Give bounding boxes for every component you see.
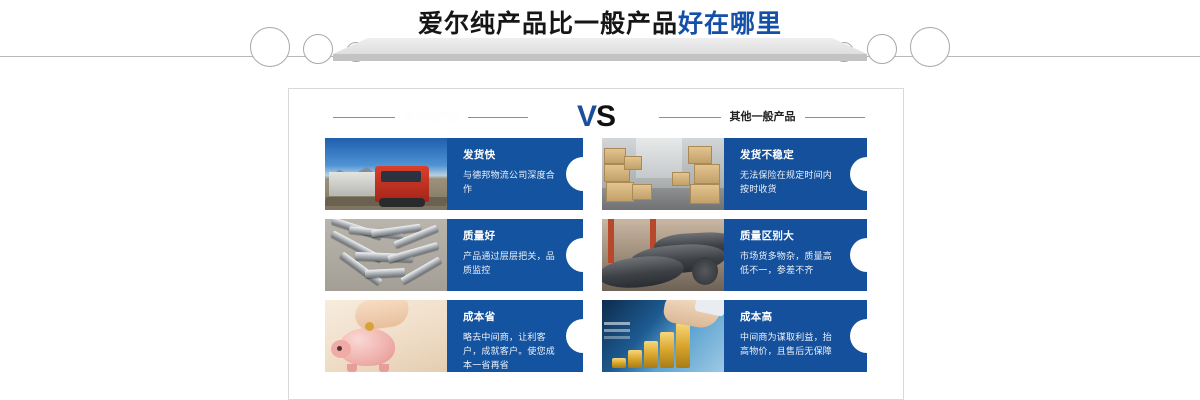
advantage-card-quality[interactable]: 质量好 产品通过层层把关，品质监控 [325, 219, 583, 291]
advantage-card-cost-panel: 成本省 略去中间商，让利客户，成就客户。使您成本一省再省 [447, 300, 583, 372]
page-title-accent: 好在哪里 [678, 9, 782, 38]
card-notch-circle [566, 157, 583, 191]
advantage-card-cost-thumbnail [325, 300, 447, 372]
pedestal-top-face [333, 38, 867, 54]
page-title-main: 爱尔纯产品比一般产品 [418, 9, 678, 38]
advantage-card-quality-heading: 质量好 [463, 230, 557, 243]
drawback-card-cost-heading: 成本高 [740, 311, 841, 324]
drawback-card-quality-heading: 质量区别大 [740, 230, 841, 243]
drawback-card-cost-panel: 成本高 中间商为谋取利益，抬高物价，且售后无保障 [724, 300, 867, 372]
advantage-card-cost[interactable]: 成本省 略去中间商，让利客户，成就客户。使您成本一省再省 [325, 300, 583, 372]
card-notch-circle [566, 238, 583, 272]
card-notch-circle [850, 319, 867, 353]
versus-right-rule-2 [805, 117, 865, 118]
advantage-card-delivery[interactable]: 发货快 与德邦物流公司深度合作 [325, 138, 583, 210]
advantage-card-delivery-thumbnail [325, 138, 447, 210]
advantage-card-quality-panel: 质量好 产品通过层层把关，品质监控 [447, 219, 583, 291]
versus-letter-v: V [577, 100, 596, 133]
versus-right-side: 其他一般产品 [619, 96, 904, 138]
comparison-grid: 发货快 与德邦物流公司深度合作 质量好 产品通过层层把关，品质监控 [288, 138, 904, 388]
drawback-card-quality-desc: 市场货多物杂，质量高低不一，参差不齐 [740, 250, 841, 278]
drawback-card-delivery-thumbnail [602, 138, 724, 210]
drawback-card-delivery-panel: 发货不稳定 无法保险在规定时间内按时收货 [724, 138, 867, 210]
drawback-card-quality-panel: 质量区别大 市场货多物杂，质量高低不一，参差不齐 [724, 219, 867, 291]
versus-left-rule-1 [333, 117, 395, 118]
title-pedestal-banner [333, 38, 867, 61]
drawback-card-cost-desc: 中间商为谋取利益，抬高物价，且售后无保障 [740, 331, 841, 359]
versus-word: VS [573, 102, 619, 132]
drawback-card-delivery[interactable]: 发货不稳定 无法保险在规定时间内按时收货 [602, 138, 867, 210]
card-notch-circle [566, 319, 583, 353]
advantage-card-cost-desc: 略去中间商，让利客户，成就客户。使您成本一省再省 [463, 331, 557, 372]
hand-stacking-gold-coins-image [602, 300, 724, 372]
page-title: 爱尔纯产品比一般产品好在哪里 [0, 8, 1200, 40]
drawback-card-delivery-heading: 发货不稳定 [740, 149, 841, 162]
card-notch-circle [850, 238, 867, 272]
advantage-card-quality-desc: 产品通过层层把关，品质监控 [463, 250, 557, 278]
drawback-card-cost-thumbnail [602, 300, 724, 372]
advantage-card-quality-thumbnail [325, 219, 447, 291]
drawback-card-delivery-desc: 无法保险在规定时间内按时收货 [740, 169, 841, 197]
advantage-card-delivery-panel: 发货快 与德邦物流公司深度合作 [447, 138, 583, 210]
warehouse-with-cardboard-boxes-image [602, 138, 724, 210]
drawback-card-cost[interactable]: 成本高 中间商为谋取利益，抬高物价，且售后无保障 [602, 300, 867, 372]
card-notch-circle [850, 157, 867, 191]
stainless-steel-tubes-image [325, 219, 447, 291]
advantage-card-cost-heading: 成本省 [463, 311, 557, 324]
drawback-column: 发货不稳定 无法保险在规定时间内按时收货 质量区别大 市场货多物杂，质量高低不一… [602, 138, 867, 388]
pedestal-base-edge [333, 54, 867, 61]
page-header: 爱尔纯产品比一般产品好在哪里 [0, 0, 1200, 82]
deco-connector-left-1 [290, 56, 303, 57]
versus-letter-s: S [596, 100, 615, 133]
versus-left-side: 爱尔纯产品 [288, 96, 573, 138]
versus-right-rule-1 [659, 117, 721, 118]
versus-right-label: 其他一般产品 [721, 110, 805, 124]
drawback-card-quality-thumbnail [602, 219, 724, 291]
stacked-dark-pipes-image [602, 219, 724, 291]
versus-left-rule-2 [468, 117, 528, 118]
advantage-card-delivery-desc: 与德邦物流公司深度合作 [463, 169, 557, 197]
red-truck-on-highway-image [325, 138, 447, 210]
versus-bar: 爱尔纯产品 VS 其他一般产品 [288, 96, 904, 138]
advantage-card-delivery-heading: 发货快 [463, 149, 557, 162]
advantage-column: 发货快 与德邦物流公司深度合作 质量好 产品通过层层把关，品质监控 [325, 138, 583, 388]
versus-left-label: 爱尔纯产品 [395, 110, 468, 124]
drawback-card-quality[interactable]: 质量区别大 市场货多物杂，质量高低不一，参差不齐 [602, 219, 867, 291]
hand-saving-coin-in-piggy-bank-image [325, 300, 447, 372]
deco-connector-right-3 [897, 56, 910, 57]
